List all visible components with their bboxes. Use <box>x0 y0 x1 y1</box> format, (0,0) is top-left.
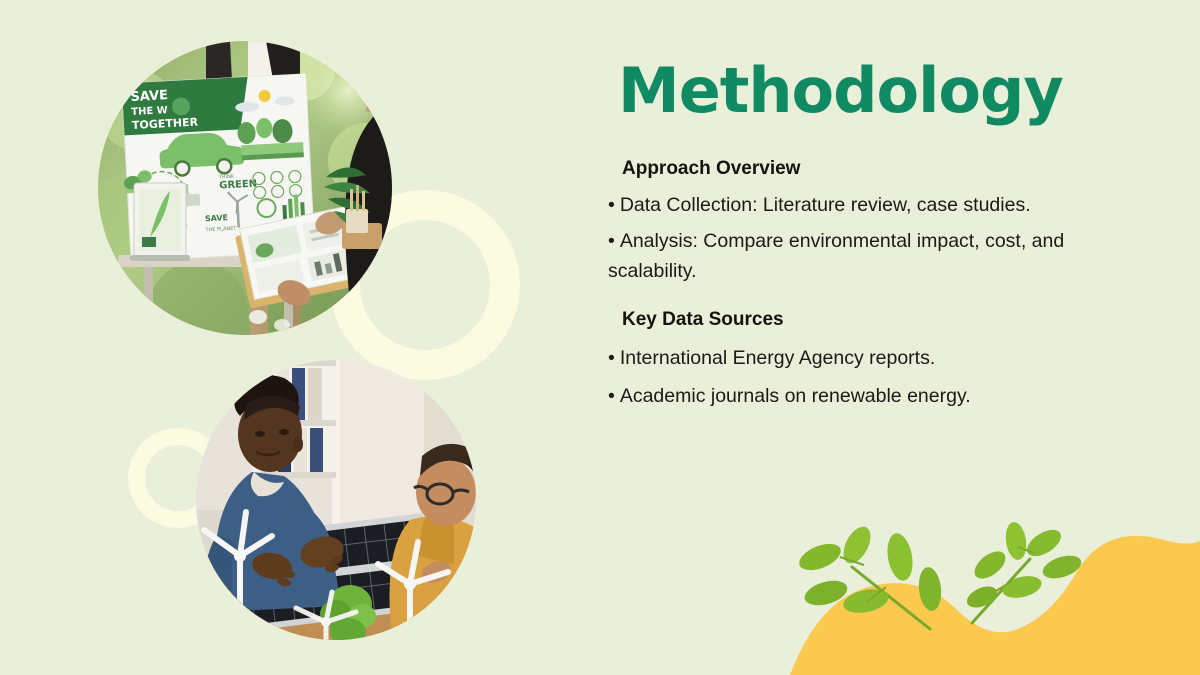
eco-presentation-photo: SAVE THE W TOGETHER THINK GREEN <box>98 41 392 335</box>
slide-content: Methodology Approach Overview •Data Coll… <box>608 58 1078 420</box>
svg-text:GREEN: GREEN <box>219 179 257 192</box>
svg-text:SAVE: SAVE <box>130 88 168 105</box>
slide-canvas: SAVE THE W TOGETHER THINK GREEN <box>0 0 1200 675</box>
solar-panel-research-photo <box>196 360 476 640</box>
bullet-marker-icon: • <box>608 230 615 252</box>
section-spacer <box>608 292 1078 306</box>
list-item-label: Academic journals on renewable energy. <box>620 385 971 407</box>
svg-text:THE W: THE W <box>131 105 168 118</box>
list-item: •Analysis: Compare environmental impact,… <box>608 226 1078 286</box>
list-item-label: Analysis: Compare environmental impact, … <box>608 230 1064 282</box>
section-heading-approach: Approach Overview <box>622 157 1078 182</box>
bullet-marker-icon: • <box>608 347 615 369</box>
list-item-label: International Energy Agency reports. <box>620 347 935 369</box>
page-title: Methodology <box>618 58 1078 123</box>
bullet-marker-icon: • <box>608 385 615 407</box>
bullet-marker-icon: • <box>608 194 615 216</box>
section-heading-sources: Key Data Sources <box>622 308 1078 333</box>
list-item: •International Energy Agency reports. <box>608 343 1078 373</box>
bullet-list-approach: •Data Collection: Literature review, cas… <box>608 190 1078 287</box>
bullet-list-sources: •International Energy Agency reports. •A… <box>608 343 1078 411</box>
list-item: •Data Collection: Literature review, cas… <box>608 190 1078 220</box>
list-item: •Academic journals on renewable energy. <box>608 381 1078 411</box>
decorative-bottom-right-ornament <box>760 505 1200 675</box>
list-item-label: Data Collection: Literature review, case… <box>620 194 1031 216</box>
svg-text:SAVE: SAVE <box>205 213 229 223</box>
